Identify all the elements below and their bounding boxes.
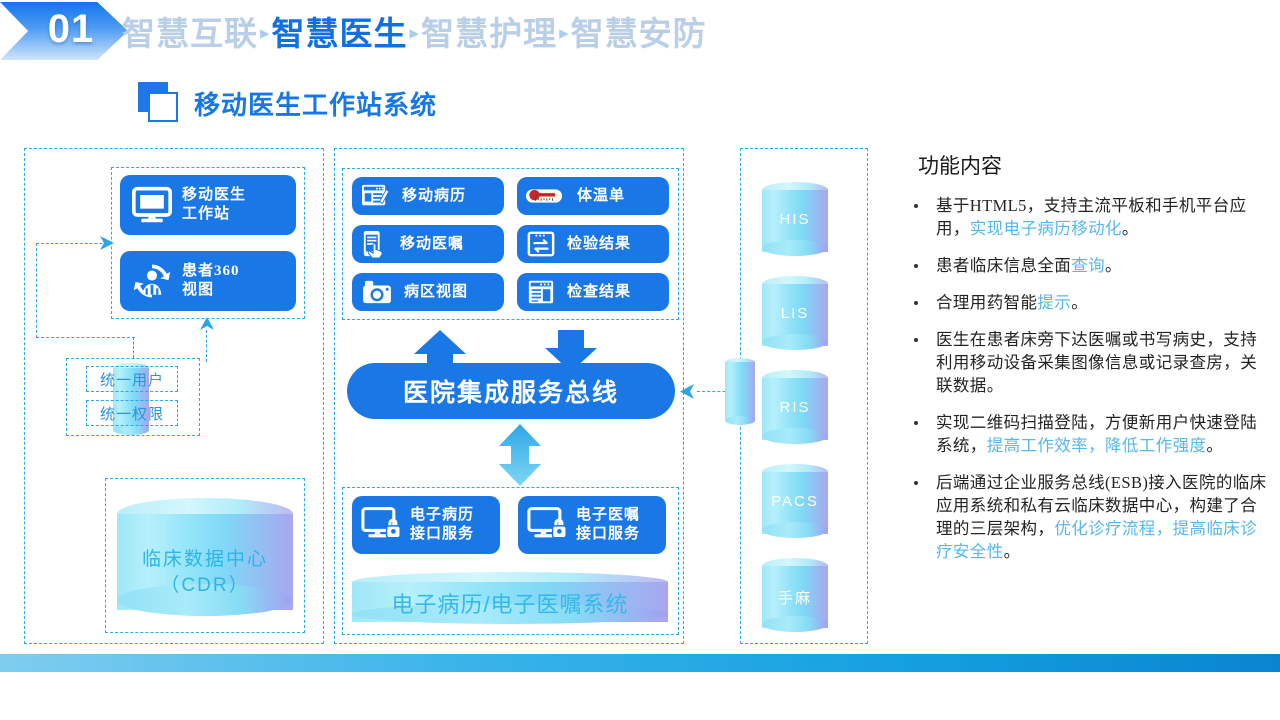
function-content-panel: 功能内容 基于HTML5，支持主流平板和手机平台应用，实现电子病历移动化。患者临… (900, 150, 1270, 577)
interface-order-service[interactable]: 电子医嘱 接口服务 (518, 496, 666, 554)
bullet-highlight-text: 提高工作效率，降低工作强度 (987, 436, 1207, 455)
bullet-highlight-text: 提示 (1037, 293, 1071, 312)
button-label-line2: 工作站 (182, 205, 246, 224)
report-window-icon (527, 278, 555, 306)
feature-mobile-orders[interactable]: 移动医嘱 (352, 225, 504, 263)
cdr-cylinder: 临床数据中心 （CDR） (117, 498, 293, 616)
bullet-text: 。 (1105, 256, 1122, 275)
bullet-text: 。 (1071, 293, 1088, 312)
patient-360-icon (130, 260, 174, 302)
button-label-line1: 患者360 (182, 262, 240, 281)
button-label: 移动病历 (402, 187, 466, 206)
system-label: RIS (762, 399, 828, 416)
bullet-text: 。 (1004, 542, 1021, 561)
footer-bar (0, 654, 1280, 672)
bullet-highlight-text: 查询 (1071, 256, 1105, 275)
arrow-head-left-icon (678, 383, 696, 400)
cdr-label-line1: 临床数据中心 (117, 544, 293, 571)
feature-mobile-doctor-workstation[interactable]: 移动医生 工作站 (120, 175, 296, 235)
button-label-line1: 电子医嘱 (576, 506, 640, 525)
system-cylinder-lis[interactable]: LIS (762, 276, 828, 352)
feature-patient-360-view[interactable]: 患者360 视图 (120, 251, 296, 311)
arrow-head-right-icon (98, 234, 116, 252)
system-label: 手麻 (762, 587, 828, 608)
arrow-head-up-icon (199, 316, 215, 332)
bus-connector-cylinder (725, 358, 755, 426)
architecture-diagram: 移动医生 工作站 患者360 视图 (0, 0, 880, 720)
feature-lab-results[interactable]: 检验结果 (517, 225, 669, 263)
emr-platform-disc: 电子病历/电子医嘱系统 (352, 572, 668, 628)
system-cylinder-pacs[interactable]: PACS (762, 464, 828, 540)
connector-auth-vertical (36, 243, 37, 338)
record-edit-icon (360, 183, 390, 209)
service-bus[interactable]: 医院集成服务总线 (347, 363, 675, 419)
connector-auth-to-client-vertical (206, 330, 207, 362)
camera-icon (362, 279, 392, 305)
button-label-line1: 电子病历 (410, 506, 474, 525)
bullet-item: 后端通过企业服务总线(ESB)接入医院的临床应用系统和私有云临床数据中心，构建了… (900, 471, 1270, 563)
bullet-item: 实现二维码扫描登陆，方便新用户快速登陆系统，提高工作效率，降低工作强度。 (900, 411, 1270, 457)
panel-heading: 功能内容 (918, 150, 1270, 180)
button-label-line2: 接口服务 (576, 525, 640, 544)
bullet-item: 基于HTML5，支持主流平板和手机平台应用，实现电子病历移动化。 (900, 194, 1270, 240)
system-cylinder-anesthesia[interactable]: 手麻 (762, 558, 828, 634)
bullet-item: 患者临床信息全面查询。 (900, 254, 1270, 277)
auth-box-unified-user[interactable]: 统一用户 (86, 366, 178, 392)
interface-emr-service[interactable]: 电子病历 接口服务 (352, 496, 500, 554)
system-cylinder-his[interactable]: HIS (762, 182, 828, 258)
bullet-text: 。 (1206, 436, 1223, 455)
bullet-text: 。 (1122, 219, 1139, 238)
system-label: PACS (762, 493, 828, 510)
bullet-item: 合理用药智能提示。 (900, 291, 1270, 314)
feature-temperature-chart[interactable]: 体温单 (517, 177, 669, 215)
arrow-bidirectional-icon (497, 424, 543, 486)
emr-platform-label: 电子病历/电子医嘱系统 (352, 587, 668, 619)
button-label-line2: 接口服务 (410, 525, 474, 544)
cdr-label-line2: （CDR） (117, 570, 293, 597)
monitor-lock-icon (360, 505, 404, 545)
bullet-text: 患者临床信息全面 (936, 256, 1071, 275)
bullet-item: 医生在患者床旁下达医嘱或书写病史，支持利用移动设备采集图像信息或记录查房，关联数… (900, 328, 1270, 397)
connector-auth-down (133, 337, 134, 358)
exchange-window-icon (527, 230, 555, 258)
feature-exam-results[interactable]: 检查结果 (517, 273, 669, 311)
button-label-line2: 视图 (182, 281, 240, 300)
monitor-lock-icon (526, 505, 570, 545)
button-label: 检查结果 (567, 283, 631, 302)
mobile-touch-icon (362, 230, 388, 258)
feature-ward-view[interactable]: 病区视图 (352, 273, 504, 311)
auth-label: 统一用户 (100, 369, 164, 390)
service-bus-label: 医院集成服务总线 (403, 373, 619, 409)
system-label: LIS (762, 305, 828, 322)
function-bullet-list: 基于HTML5，支持主流平板和手机平台应用，实现电子病历移动化。患者临床信息全面… (900, 194, 1270, 563)
button-label: 体温单 (577, 187, 625, 206)
auth-label: 统一权限 (100, 403, 164, 424)
button-label-line1: 移动医生 (182, 186, 246, 205)
button-label: 检验结果 (567, 235, 631, 254)
bullet-text: 合理用药智能 (936, 293, 1037, 312)
button-label: 病区视图 (404, 283, 468, 302)
bullet-text: 医生在患者床旁下达医嘱或书写病史，支持利用移动设备采集图像信息或记录查房，关联数… (936, 330, 1257, 395)
monitor-icon (130, 185, 174, 225)
button-label: 移动医嘱 (400, 235, 464, 254)
thermometer-icon (525, 186, 563, 206)
system-cylinder-ris[interactable]: RIS (762, 370, 828, 446)
system-label: HIS (762, 211, 828, 228)
auth-box-unified-permission[interactable]: 统一权限 (86, 400, 178, 426)
bullet-highlight-text: 实现电子病历移动化 (970, 219, 1122, 238)
feature-mobile-record[interactable]: 移动病历 (352, 177, 504, 215)
connector-auth-bottom (36, 337, 135, 338)
